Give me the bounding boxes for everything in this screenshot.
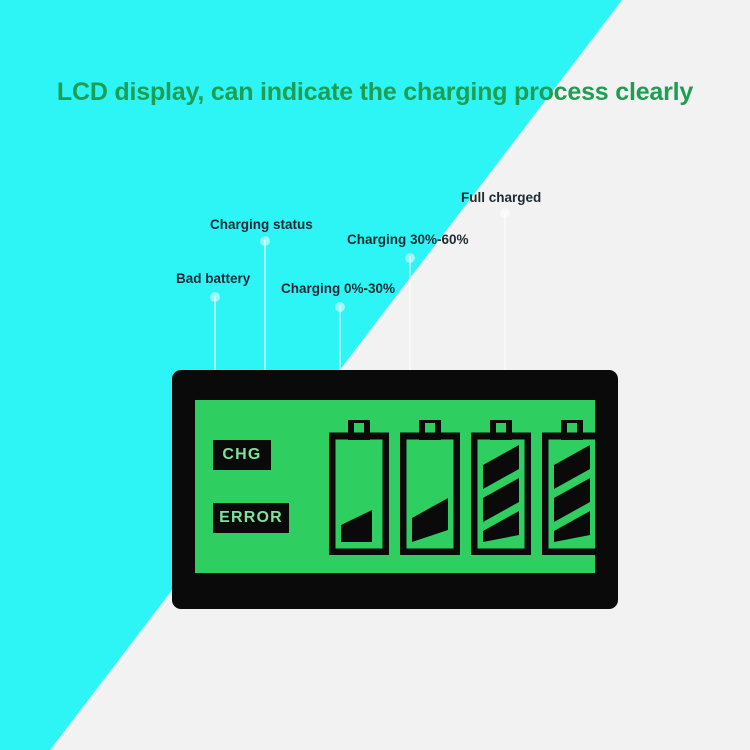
callout-charging-0-30: Charging 0%-30% bbox=[281, 281, 395, 296]
status-tag-chg: CHG bbox=[213, 440, 271, 470]
callout-charging-30-60: Charging 30%-60% bbox=[347, 232, 469, 247]
battery-icon-2 bbox=[400, 420, 460, 555]
battery-icon-4 bbox=[542, 420, 602, 555]
callout-bad-battery: Bad battery bbox=[176, 271, 250, 286]
callout-full-charged: Full charged bbox=[461, 190, 541, 205]
battery-icon-1 bbox=[329, 420, 389, 555]
poster-stage: LCD display, can indicate the charging p… bbox=[0, 0, 750, 750]
lcd-screen: CHG ERROR bbox=[195, 400, 595, 573]
battery-icon-3 bbox=[471, 420, 531, 555]
status-tag-error: ERROR bbox=[213, 503, 289, 533]
charger-device-body: CHG ERROR bbox=[172, 370, 618, 609]
callout-charging-status: Charging status bbox=[210, 217, 313, 232]
